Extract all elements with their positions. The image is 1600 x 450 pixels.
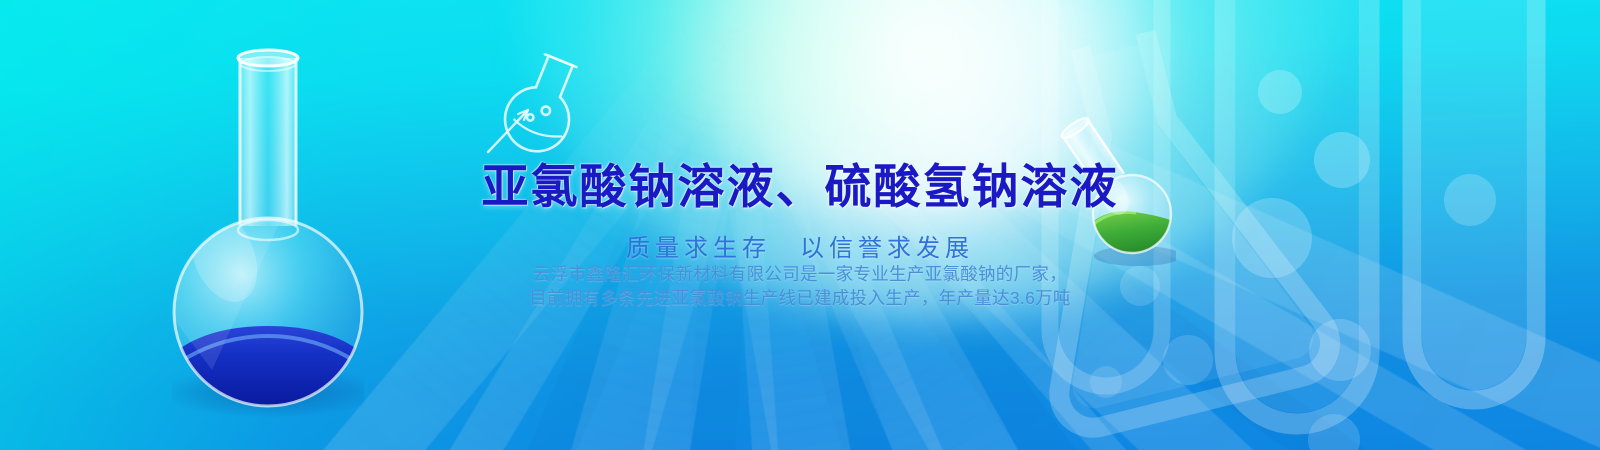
bubble-circle [1444,174,1496,226]
bubble-circle [1309,319,1371,381]
flask-line-art-icon [484,48,604,166]
bubble-circle [1314,132,1370,188]
promo-banner: 亚氯酸钠溶液、硫酸氢钠溶液 质量求生存 以信誉求发展 云浮市鑫隆汇环保新材料有限… [0,0,1600,450]
bubble-circle [1163,335,1213,385]
bubble-circle [1232,198,1312,278]
round-bottom-flask-blue-liquid [172,40,364,422]
round-bottom-flask-green-liquid [1058,116,1176,266]
bubble-circle [1090,366,1122,398]
